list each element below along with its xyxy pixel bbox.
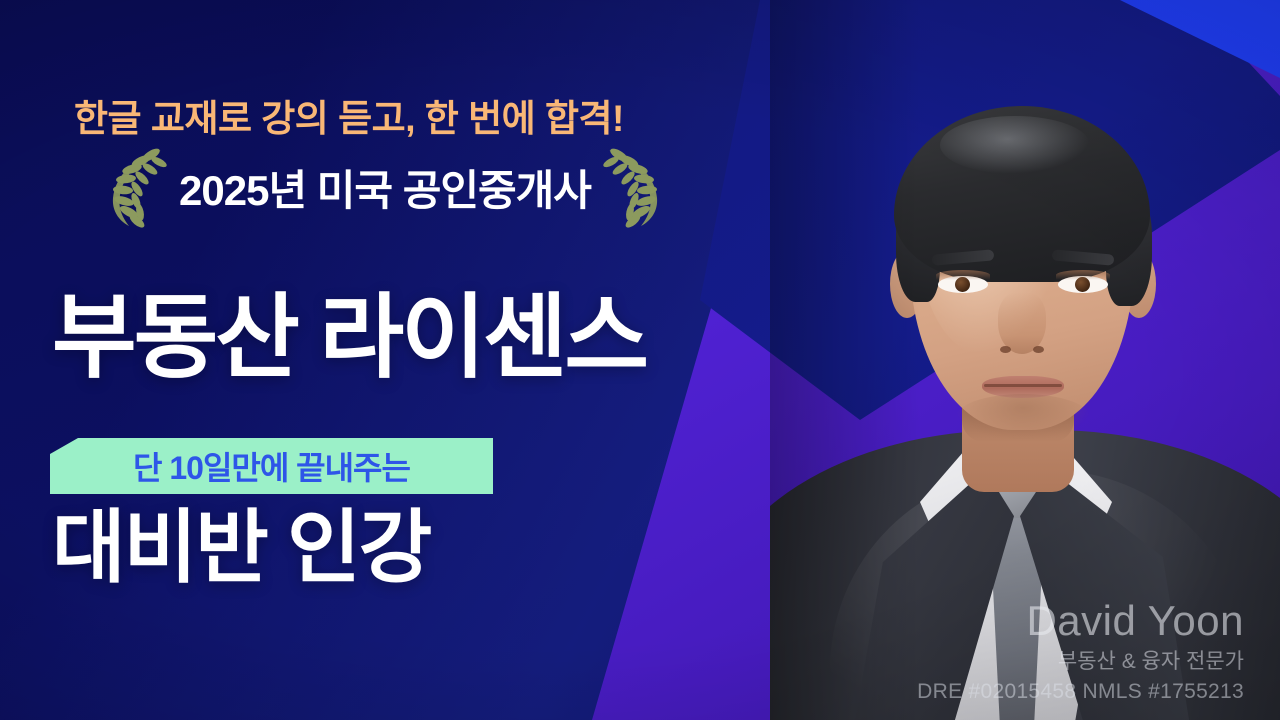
agent-license-numbers: DRE #02015458 NMLS #1755213: [917, 679, 1244, 706]
main-title-text: 부동산 라이센스: [52, 292, 646, 384]
tagline-text: 한글 교재로 강의 듣고, 한 번에 합격!: [74, 88, 624, 142]
laurel-wreath-left-icon: [105, 146, 173, 228]
sub-title-text: 대비반 인강: [52, 508, 430, 588]
agent-name: David Yoon: [917, 594, 1244, 648]
credentials-block: David Yoon 부동산 & 융자 전문가 DRE #02015458 NM…: [917, 594, 1244, 707]
laurel-wreath-right-icon: [597, 146, 665, 228]
promo-banner: 한글 교재로 강의 듣고, 한 번에 합격! 2025년 미국: [0, 0, 1280, 720]
highlight-badge: 단 10일만에 끝내주는: [50, 438, 493, 494]
year-title-text: 2025년 미국 공인중개사: [173, 157, 597, 218]
agent-role: 부동산 & 융자 전문가: [917, 649, 1244, 676]
badge-label: 단 10일만에 끝내주는: [133, 443, 410, 489]
award-wreath-row: 2025년 미국 공인중개사: [60, 146, 710, 228]
